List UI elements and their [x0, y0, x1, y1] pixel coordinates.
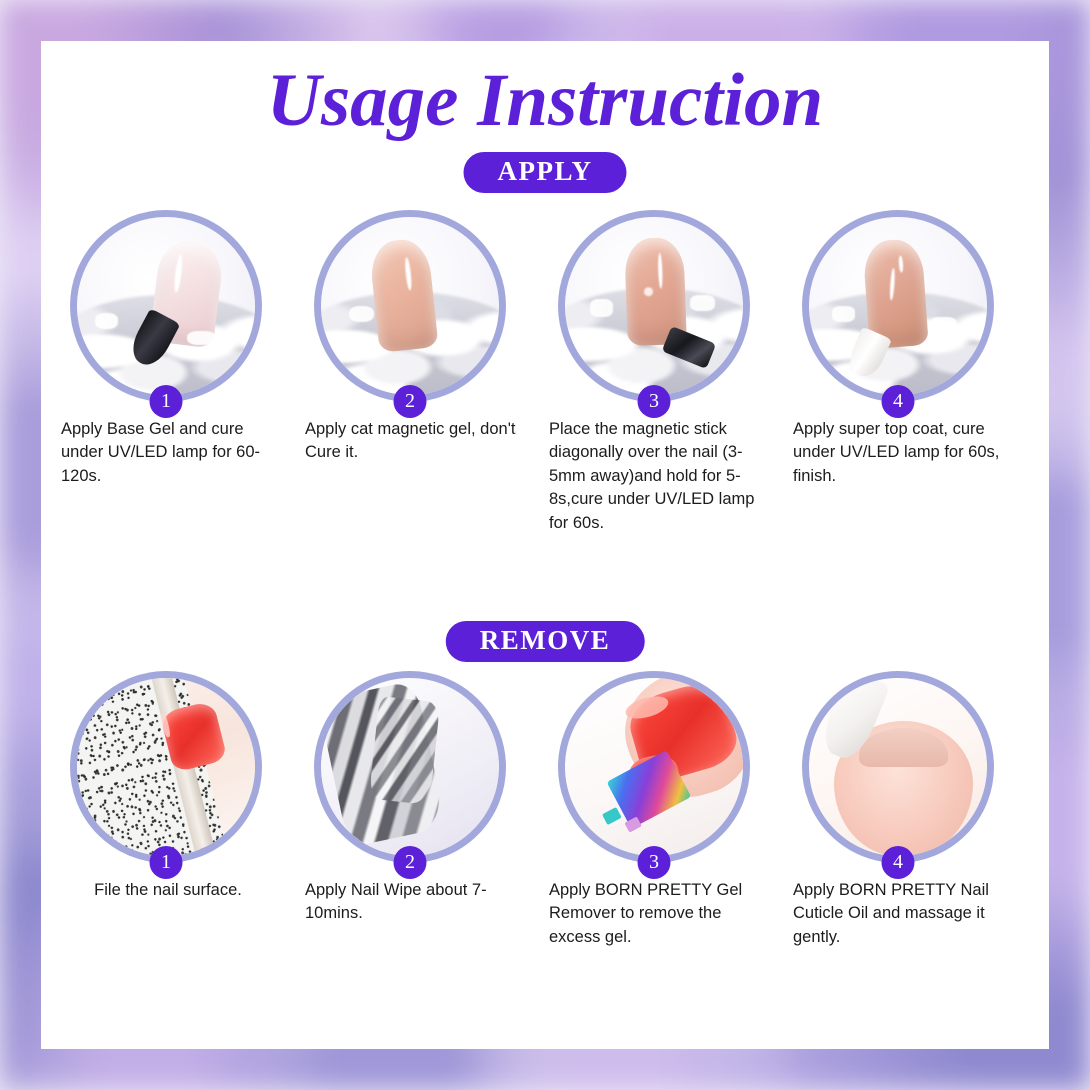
remove-step-2-caption: Apply Nail Wipe about 7-10mins.: [305, 879, 520, 926]
apply-step-4: 4 Apply super top coat, cure under UV/LE…: [802, 210, 994, 402]
remove-step-3-circle: [558, 671, 750, 863]
apply-step-3-caption: Place the magnetic stick diagonally over…: [549, 418, 764, 535]
apply-step-2: 2 Apply cat magnetic gel, don't Cure it.: [314, 210, 506, 402]
apply-step-3-circle: [558, 210, 750, 402]
apply-step-2-circle: [314, 210, 506, 402]
remove-step-4-circle: [802, 671, 994, 863]
remove-step-1-circle: [70, 671, 262, 863]
apply-step-4-figure: 4: [802, 210, 994, 402]
apply-step-2-figure: 2: [314, 210, 506, 402]
remove-step-3-number: 3: [638, 846, 671, 879]
remove-step-4: 4 Apply BORN PRETTY Nail Cuticle Oil and…: [802, 671, 994, 863]
remove-step-1-caption: File the nail surface.: [58, 879, 278, 902]
apply-section-badge: APPLY: [463, 152, 626, 193]
white-content-card: Usage Instruction APPLY: [41, 41, 1049, 1049]
apply-step-1: 1 Apply Base Gel and cure under UV/LED l…: [70, 210, 262, 402]
apply-step-4-caption: Apply super top coat, cure under UV/LED …: [793, 418, 1008, 488]
nail-magnetic-stick-icon: [565, 217, 743, 395]
remove-step-2: 2 Apply Nail Wipe about 7-10mins.: [314, 671, 506, 863]
apply-step-2-number: 2: [394, 385, 427, 418]
apply-step-3: 3 Place the magnetic stick diagonally ov…: [558, 210, 750, 402]
apply-step-3-figure: 3: [558, 210, 750, 402]
remove-step-1-number: 1: [150, 846, 183, 879]
nail-top-coat-white-brush-icon: [809, 217, 987, 395]
nail-base-gel-black-brush-icon: [77, 217, 255, 395]
remove-step-1-figure: 1: [70, 671, 262, 863]
apply-step-1-number: 1: [150, 385, 183, 418]
nail-file-buffer-icon: [77, 678, 255, 856]
apply-step-1-figure: 1: [70, 210, 262, 402]
remove-step-4-number: 4: [882, 846, 915, 879]
apply-step-1-caption: Apply Base Gel and cure under UV/LED lam…: [61, 418, 276, 488]
remove-step-1: 1 File the nail surface.: [70, 671, 262, 863]
remove-step-4-figure: 4: [802, 671, 994, 863]
apply-step-3-number: 3: [638, 385, 671, 418]
apply-step-4-circle: [802, 210, 994, 402]
usage-instruction-poster: Usage Instruction APPLY: [0, 0, 1090, 1090]
apply-step-1-circle: [70, 210, 262, 402]
remove-step-3: 3 Apply BORN PRETTY Gel Remover to remov…: [558, 671, 750, 863]
nail-gel-remover-pusher-icon: [565, 678, 743, 856]
page-title: Usage Instruction: [41, 58, 1049, 144]
remove-section-badge: REMOVE: [446, 621, 645, 662]
remove-step-2-figure: 2: [314, 671, 506, 863]
remove-step-2-circle: [314, 671, 506, 863]
remove-step-2-number: 2: [394, 846, 427, 879]
nail-cuticle-oil-icon: [809, 678, 987, 856]
apply-step-2-caption: Apply cat magnetic gel, don't Cure it.: [305, 418, 520, 465]
nail-cat-magnetic-gel-icon: [321, 217, 499, 395]
nail-foil-wrap-icon: [321, 678, 499, 856]
remove-step-4-caption: Apply BORN PRETTY Nail Cuticle Oil and m…: [793, 879, 1008, 949]
remove-step-3-figure: 3: [558, 671, 750, 863]
remove-step-3-caption: Apply BORN PRETTY Gel Remover to remove …: [549, 879, 764, 949]
apply-step-4-number: 4: [882, 385, 915, 418]
